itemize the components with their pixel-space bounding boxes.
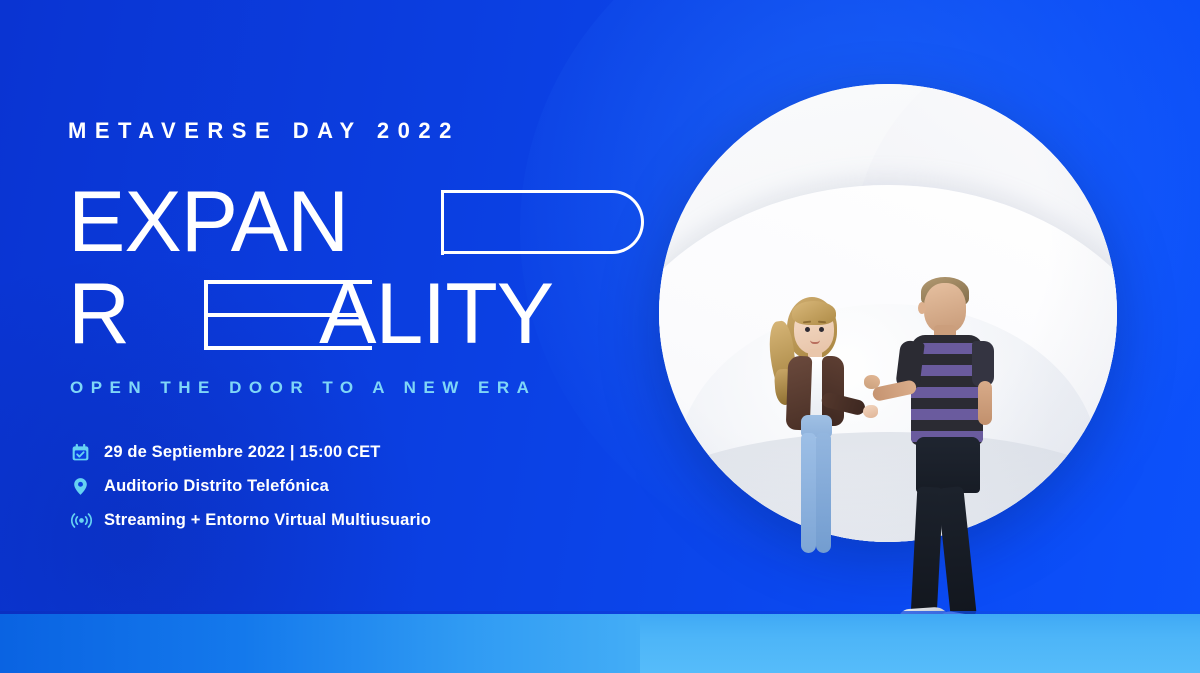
broadcast-icon — [70, 510, 104, 531]
info-row-date: 29 de Septiembre 2022 | 15:00 CET — [70, 436, 590, 468]
person-arm-right — [978, 381, 992, 425]
avatar-eye-right — [819, 327, 824, 332]
avatar-eye-left — [805, 327, 810, 332]
stretched-letter-e — [204, 280, 372, 350]
avatar-hand — [863, 405, 878, 418]
shirt-stripe — [911, 387, 983, 398]
title-line-reality: RALITY — [68, 270, 588, 358]
tagline: OPEN THE DOOR TO A NEW ERA — [70, 378, 536, 398]
avatar-hair-fringe — [792, 301, 836, 325]
female-avatar — [765, 295, 875, 570]
person-hand-left — [864, 375, 880, 389]
info-row-location: Auditorio Distrito Telefónica — [70, 470, 590, 502]
male-person — [880, 275, 1015, 645]
letter-e-bar-bottom — [204, 346, 372, 350]
stretched-letter-d — [444, 190, 644, 254]
main-title: EXPAN RALITY — [68, 178, 588, 358]
calendar-check-icon — [70, 442, 104, 463]
eyebrow-heading: METAVERSE DAY 2022 — [68, 118, 460, 144]
map-pin-icon — [70, 476, 104, 497]
event-info-list: 29 de Septiembre 2022 | 15:00 CET Audito… — [70, 436, 590, 538]
person-pants — [916, 437, 980, 493]
letter-e-bar-top — [204, 280, 372, 284]
shirt-stripe — [911, 409, 983, 420]
content-column: METAVERSE DAY 2022 EXPAN RALITY OPEN THE… — [68, 0, 628, 673]
info-row-streaming: Streaming + Entorno Virtual Multiusuario — [70, 504, 590, 536]
info-text-location: Auditorio Distrito Telefónica — [104, 477, 329, 496]
metaverse-day-banner: METAVERSE DAY 2022 EXPAN RALITY OPEN THE… — [0, 0, 1200, 673]
title-word-expan: EXPAN — [68, 178, 348, 266]
title-line-expand: EXPAN — [68, 178, 588, 266]
person-leg-front — [937, 486, 976, 618]
person-ear — [918, 302, 926, 314]
info-text-streaming: Streaming + Entorno Virtual Multiusuario — [104, 511, 431, 530]
avatar-leg-right — [816, 433, 831, 553]
letter-e-bar-middle — [204, 313, 364, 317]
title-letter-r: R — [68, 270, 129, 358]
info-text-date: 29 de Septiembre 2022 | 15:00 CET — [104, 443, 380, 462]
avatar-leg-left — [801, 433, 816, 553]
